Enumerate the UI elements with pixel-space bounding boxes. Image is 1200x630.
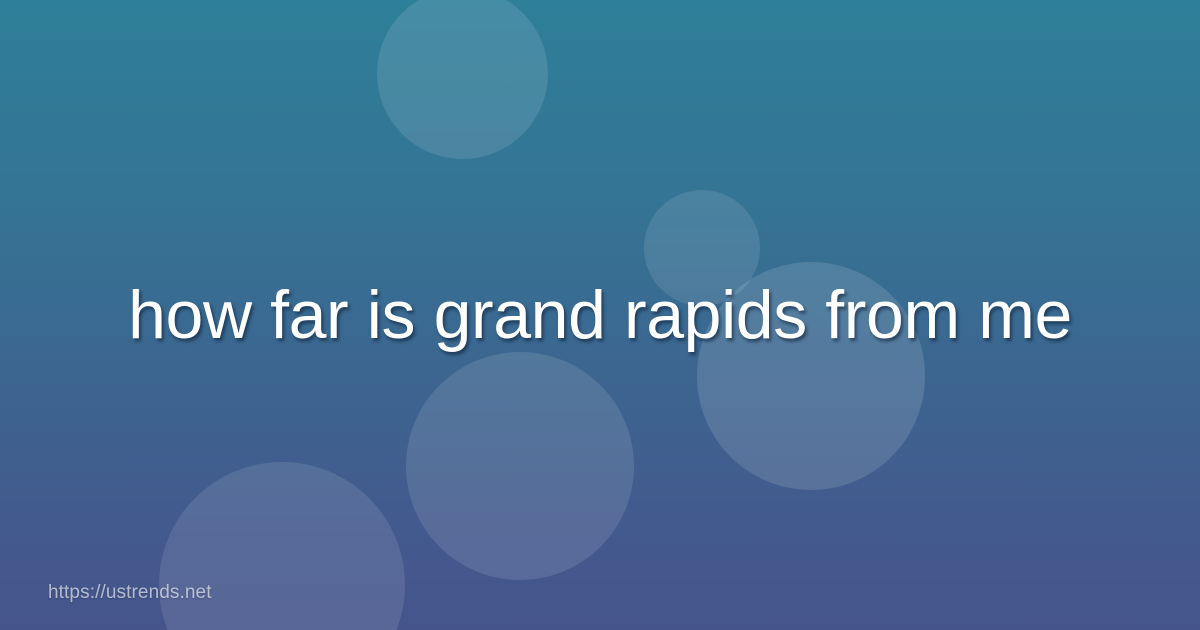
og-preview-card: how far is grand rapids from me https://… [0, 0, 1200, 630]
headline-container: how far is grand rapids from me [0, 0, 1200, 630]
site-url-label: https://ustrends.net [48, 582, 212, 604]
page-title: how far is grand rapids from me [128, 277, 1072, 353]
